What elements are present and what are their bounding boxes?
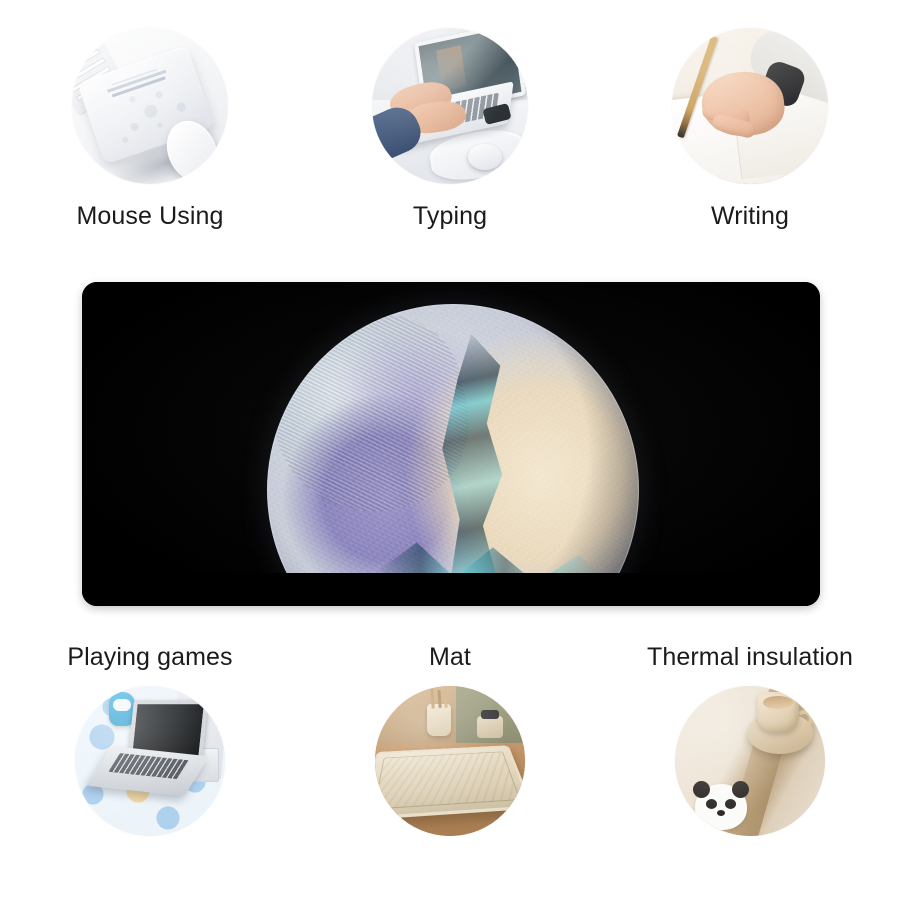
usage-row-top: Mouse Using Typing <box>0 28 900 278</box>
usage-label-playing-games: Playing games <box>67 645 232 670</box>
infographic-page: Mouse Using Typing <box>0 0 900 900</box>
beige-desk-mat-photo <box>375 686 525 836</box>
mousepad-with-mouse-photo <box>72 28 228 184</box>
hands-typing-on-laptop-photo <box>372 28 528 184</box>
usage-label-writing: Writing <box>711 204 789 229</box>
hand-writing-with-pencil-photo <box>672 28 828 184</box>
usage-label-thermal-insulation: Thermal insulation <box>647 645 853 670</box>
usage-row-bottom: Playing games Mat The <box>0 645 900 885</box>
usage-label-mouse-using: Mouse Using <box>77 204 224 229</box>
planet-bottom-crop <box>82 573 820 606</box>
usage-item-typing[interactable]: Typing <box>300 28 600 278</box>
usage-item-thermal-insulation[interactable]: Thermal insulation <box>600 645 900 885</box>
usage-item-mat[interactable]: Mat <box>300 645 600 885</box>
laptop-on-floral-mat-photo <box>75 686 225 836</box>
usage-item-playing-games[interactable]: Playing games <box>0 645 300 885</box>
coffee-cup-on-mat-photo <box>675 686 825 836</box>
usage-item-writing[interactable]: Writing <box>600 28 900 278</box>
planet-mousepad-hero-image <box>82 282 820 606</box>
usage-item-mouse-using[interactable]: Mouse Using <box>0 28 300 278</box>
panda-graphic <box>695 784 747 830</box>
usage-label-mat: Mat <box>429 645 471 670</box>
usage-label-typing: Typing <box>413 204 487 229</box>
